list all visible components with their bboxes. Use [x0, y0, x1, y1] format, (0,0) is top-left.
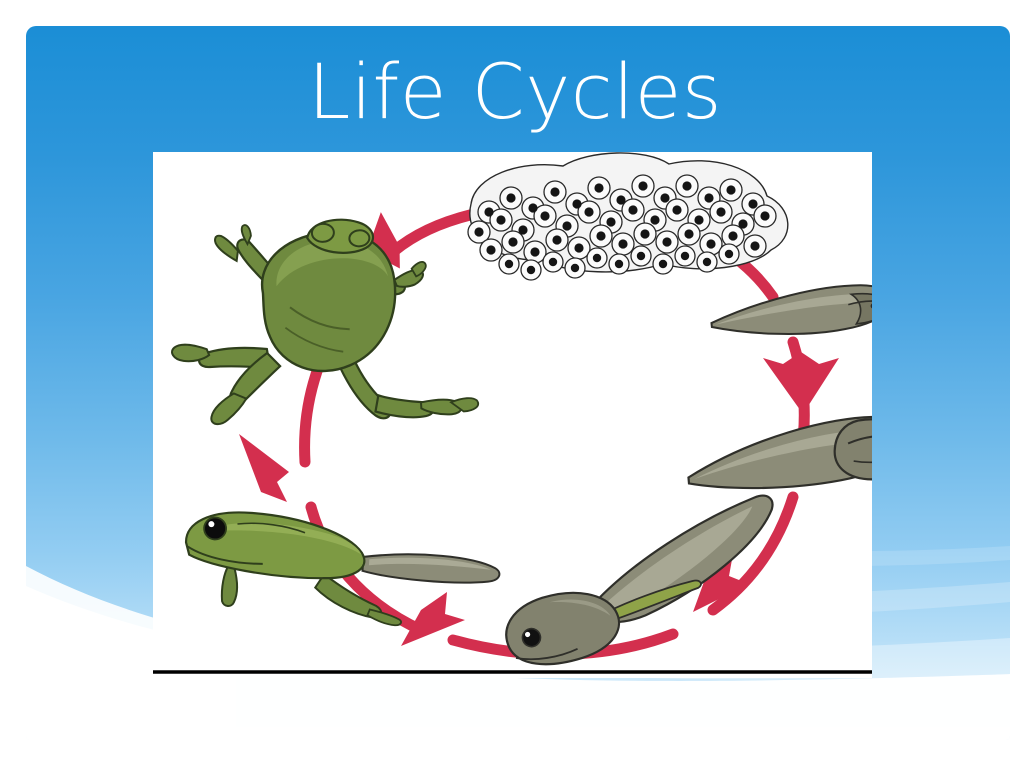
- stage-adult-frog: [164, 210, 479, 434]
- life-cycle-image-panel: [153, 152, 872, 678]
- frog-eye-left: [311, 223, 334, 242]
- stage-froglet: [181, 509, 502, 633]
- tadpole-early-body: [709, 281, 872, 344]
- stage-tadpole-grown: [685, 412, 872, 495]
- froglet-front-leg: [221, 565, 239, 606]
- stage-tadpole-early: [709, 281, 872, 344]
- frog-hind-toe-left: [210, 393, 248, 425]
- slide: Life Cycles: [0, 0, 1024, 768]
- froglet-eye: [203, 517, 226, 540]
- stage-eggs: [468, 153, 788, 280]
- slide-title: Life Cycles: [60, 52, 970, 132]
- frog-life-cycle-diagram: [153, 152, 872, 678]
- frog-eye-right: [349, 230, 370, 247]
- arrowhead-froglet-to-frog: [239, 434, 289, 502]
- arrowhead-tadpole-to-grown: [763, 352, 839, 414]
- frog-front-hand-left: [215, 234, 239, 262]
